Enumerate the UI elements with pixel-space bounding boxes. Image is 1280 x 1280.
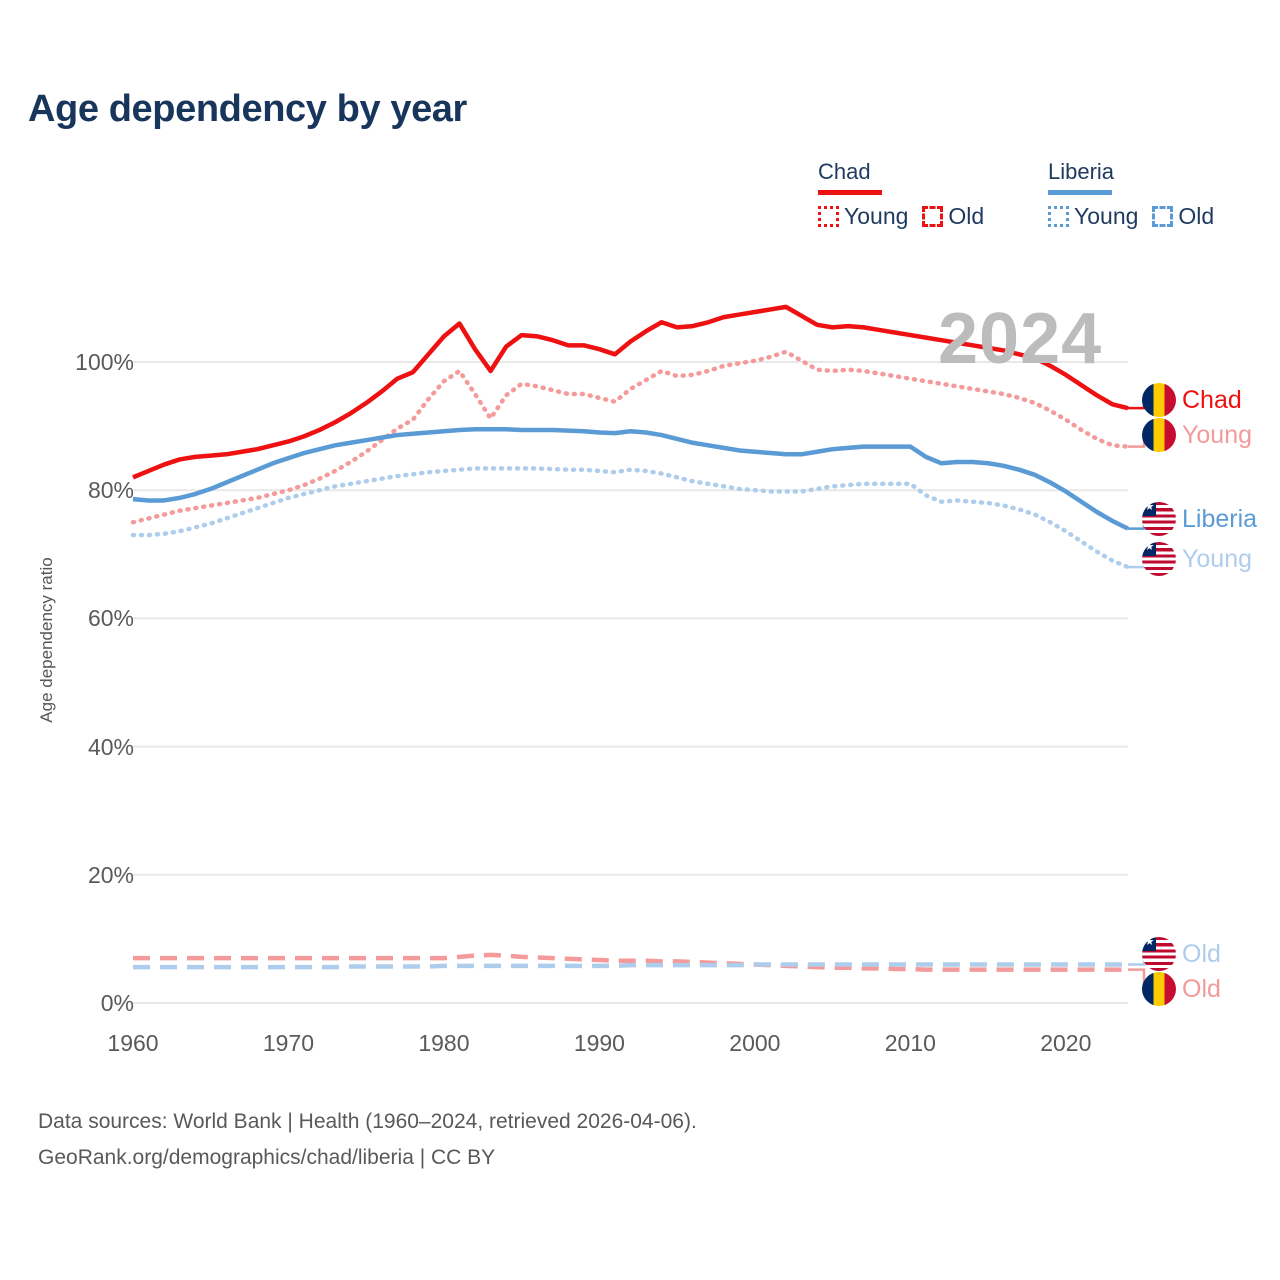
- series-label-chad_old[interactable]: Old: [1142, 972, 1221, 1006]
- plot-area: Age dependency ratio 0%20%40%60%80%100% …: [0, 0, 1280, 1280]
- footer: Data sources: World Bank | Health (1960–…: [38, 1104, 697, 1176]
- footer-data-sources: Data sources: World Bank | Health (1960–…: [38, 1104, 697, 1140]
- year-watermark: 2024: [938, 298, 1102, 380]
- series-label-liberia_young[interactable]: Young: [1142, 542, 1252, 576]
- chad-flag-icon: [1142, 972, 1176, 1006]
- series-label-text: Old: [1182, 940, 1221, 969]
- chad-flag-icon: [1142, 383, 1176, 417]
- liberia-flag-icon: [1142, 542, 1176, 576]
- series-label-chad_total[interactable]: Chad: [1142, 383, 1242, 417]
- chart-canvas: [0, 0, 1280, 1280]
- series-label-liberia_old[interactable]: Old: [1142, 937, 1221, 971]
- series-label-text: Chad: [1182, 386, 1242, 415]
- liberia-flag-icon: [1142, 937, 1176, 971]
- footer-attribution: GeoRank.org/demographics/chad/liberia | …: [38, 1140, 697, 1176]
- series-label-liberia_total[interactable]: Liberia: [1142, 502, 1257, 536]
- series-label-text: Old: [1182, 975, 1221, 1004]
- chad-flag-icon: [1142, 418, 1176, 452]
- series-label-chad_young[interactable]: Young: [1142, 418, 1252, 452]
- series-line-liberia_old: [133, 965, 1128, 968]
- chart-page: Age dependency by year Chad Young Old Li…: [0, 0, 1280, 1280]
- series-line-liberia_young: [133, 468, 1128, 567]
- series-label-text: Young: [1182, 421, 1252, 450]
- liberia-flag-icon: [1142, 502, 1176, 536]
- series-label-text: Young: [1182, 545, 1252, 574]
- series-label-text: Liberia: [1182, 505, 1257, 534]
